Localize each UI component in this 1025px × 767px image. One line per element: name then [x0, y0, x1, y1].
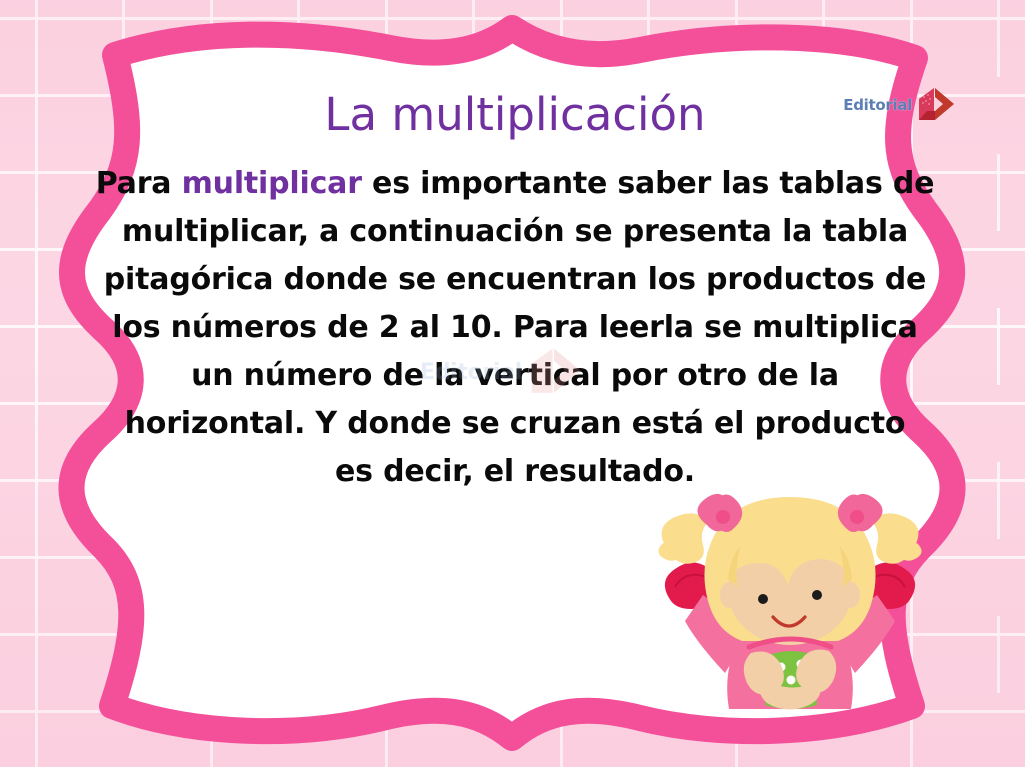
logo-wordmark: Editorial [843, 96, 912, 114]
body-text-run: Para [96, 166, 182, 201]
body-text-run: pitagórica donde se encuentran los produ… [104, 262, 926, 297]
body-text-run: horizontal. Y donde se cruzan está el pr… [125, 406, 906, 441]
cheerleader-girl-illustration [645, 483, 935, 713]
md-triangle-logo-icon [915, 87, 955, 123]
body-line: pitagórica donde se encuentran los produ… [75, 256, 955, 304]
body-text-run: es decir, el resultado. [335, 454, 695, 489]
editorial-md-logo: Editorial [843, 87, 955, 123]
eye-right [812, 590, 822, 600]
ear-right [842, 582, 860, 608]
body-text-run: los números de 2 al 10. Para leerla se m… [112, 310, 917, 345]
ear-left [720, 582, 738, 608]
slide-title: La multiplicación [70, 92, 960, 137]
body-text-run: multiplicar, a continuación se presenta … [122, 214, 908, 249]
slide-content: Editorial La multiplicación Editorial [70, 52, 960, 712]
body-line: Para multiplicar es importante saber las… [75, 160, 955, 208]
body-text-run: un número de la vertical por otro de la [191, 358, 839, 393]
body-line: multiplicar, a continuación se presenta … [75, 208, 955, 256]
body-paragraph: Para multiplicar es importante saber las… [75, 160, 955, 496]
pigtail-right [871, 513, 922, 563]
body-line: horizontal. Y donde se cruzan está el pr… [75, 400, 955, 448]
eye-left [758, 594, 768, 604]
highlighted-term: multiplicar [182, 166, 362, 201]
pigtail-left [658, 513, 709, 563]
body-text-run: es importante saber las tablas de [362, 166, 935, 201]
body-line: un número de la vertical por otro de la [75, 352, 955, 400]
slide-canvas: Editorial La multiplicación Editorial [0, 0, 1025, 767]
body-line: los números de 2 al 10. Para leerla se m… [75, 304, 955, 352]
